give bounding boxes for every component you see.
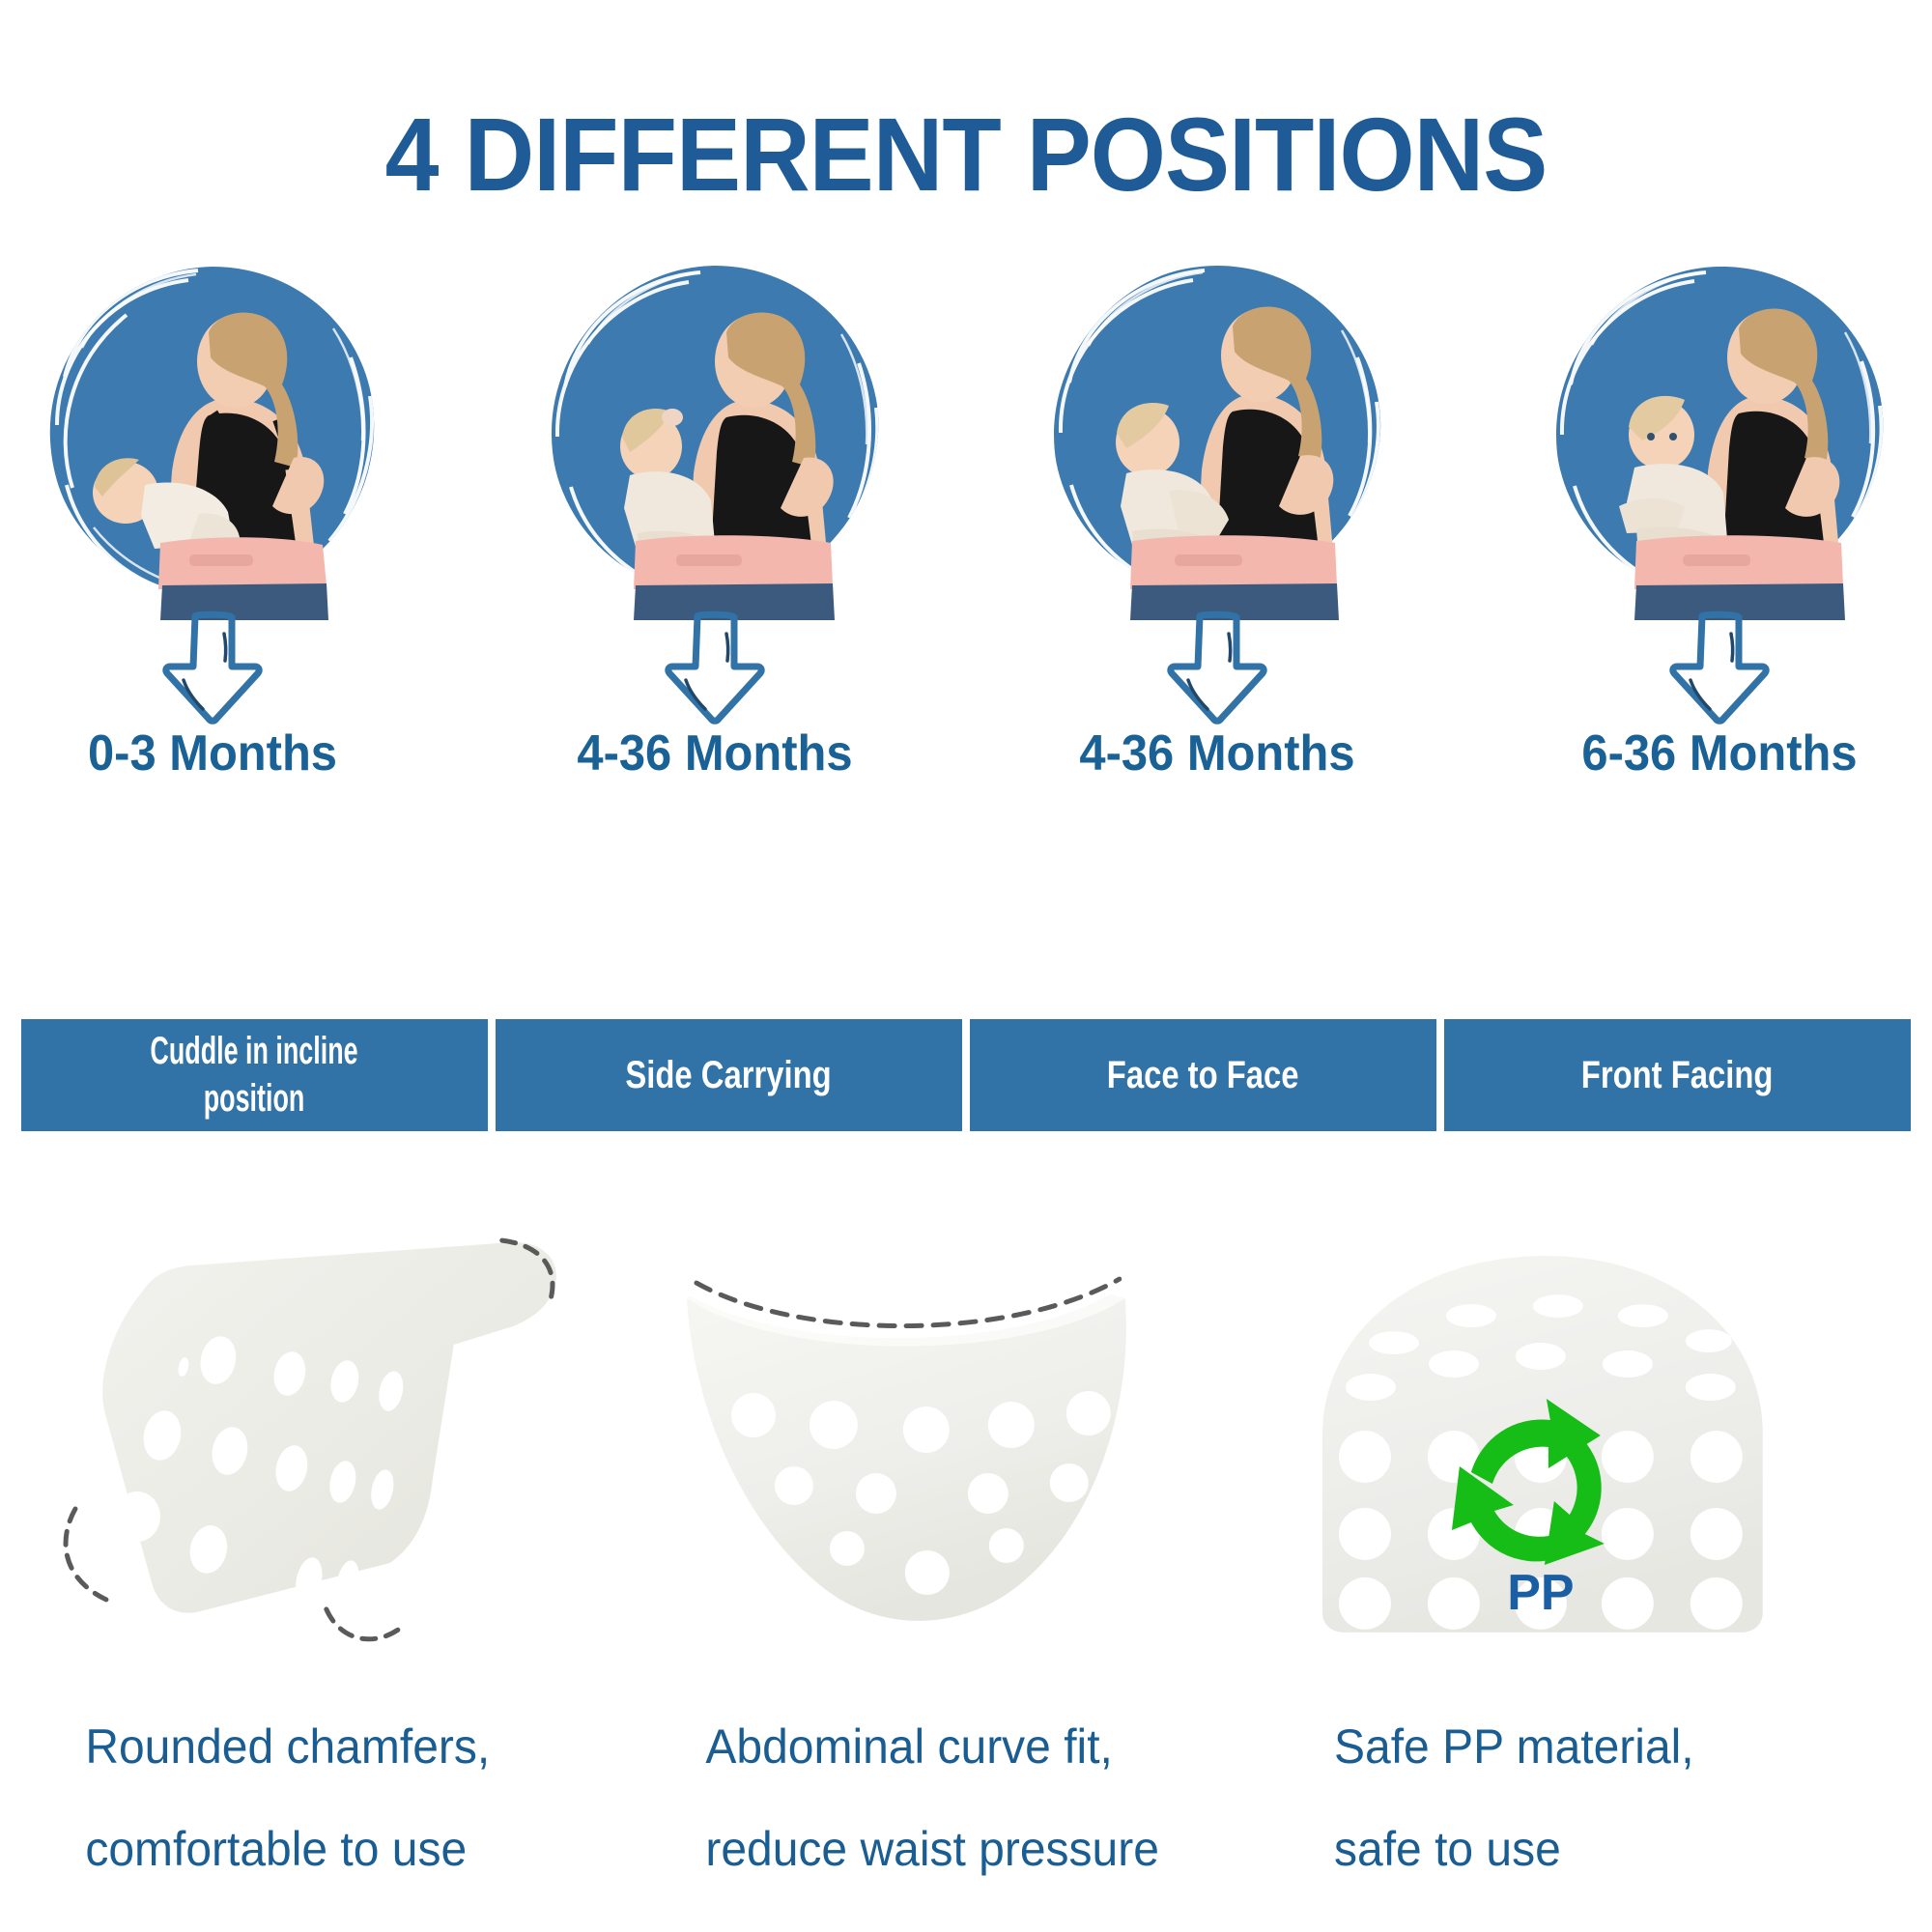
feature-art-row: PP (0, 1227, 1932, 1671)
feature-caption-1-line-2: comfortable to use (85, 1798, 618, 1900)
rounded-chamfer-panel-art (0, 1227, 644, 1671)
position-label-bar-row: Cuddle in incline position Side Carrying… (21, 1019, 1911, 1131)
down-arrow-icon (1662, 611, 1777, 724)
position-photo-cell-2 (522, 253, 908, 620)
position-label-line-1a: Cuddle in incline (151, 1028, 358, 1075)
position-label-bar-1: Cuddle in incline position (21, 1019, 488, 1131)
position-label-line-1b: position (151, 1075, 358, 1122)
feature-caption-1: Rounded chamfers, comfortable to use (0, 1695, 618, 1908)
down-arrow-icon (1159, 611, 1275, 724)
feature-caption-3-line-2: safe to use (1334, 1798, 1906, 1900)
position-label-bar-3: Face to Face (970, 1019, 1436, 1131)
age-label-3: 4-36 Months (1036, 720, 1399, 797)
pp-material-panel-art: PP (1288, 1227, 1932, 1671)
position-label-bar-2: Side Carrying (496, 1019, 962, 1131)
feature-caption-2: Abdominal curve fit, reduce waist pressu… (644, 1695, 1263, 1908)
feature-caption-3: Safe PP material, safe to use (1288, 1695, 1906, 1908)
abdominal-curve-panel-art (644, 1227, 1289, 1671)
age-label-4: 6-36 Months (1538, 720, 1901, 797)
feature-caption-3-line-1: Safe PP material, (1334, 1695, 1906, 1798)
cuddle-incline-photo (19, 253, 406, 620)
front-facing-photo (1526, 253, 1913, 620)
position-photo-cell-1 (19, 253, 406, 620)
age-label-row: 0-3 Months 4-36 Months 4-36 Months 6-36 … (19, 720, 1913, 797)
down-arrow-icon (657, 611, 773, 724)
age-label-2: 4-36 Months (533, 720, 896, 797)
feature-caption-1-line-1: Rounded chamfers, (85, 1695, 618, 1798)
feature-caption-2-line-2: reduce waist pressure (705, 1798, 1263, 1900)
feature-cell-1 (0, 1227, 644, 1671)
down-arrow-icon (155, 611, 270, 724)
feature-cell-3: PP (1288, 1227, 1932, 1671)
down-arrow-cell-4 (1526, 611, 1913, 726)
feature-cell-2 (644, 1227, 1289, 1671)
side-carrying-photo (522, 253, 908, 620)
pp-badge-text: PP (1508, 1565, 1575, 1621)
position-label-line-2a: Side Carrying (626, 1052, 832, 1099)
position-photo-cell-3 (1024, 253, 1410, 620)
feature-caption-row: Rounded chamfers, comfortable to use Abd… (0, 1695, 1932, 1908)
position-photo-cell-4 (1526, 253, 1913, 620)
page-title: 4 DIFFERENT POSITIONS (68, 102, 1864, 207)
down-arrow-cell-1 (19, 611, 406, 726)
positions-photo-row (19, 253, 1913, 620)
age-label-1: 0-3 Months (31, 720, 394, 797)
down-arrow-cell-2 (522, 611, 908, 726)
feature-caption-2-line-1: Abdominal curve fit, (705, 1695, 1263, 1798)
down-arrow-cell-3 (1024, 611, 1410, 726)
position-label-line-3a: Face to Face (1107, 1052, 1299, 1099)
face-to-face-photo (1024, 253, 1410, 620)
position-label-bar-4: Front Facing (1444, 1019, 1911, 1131)
position-label-line-4a: Front Facing (1581, 1052, 1774, 1099)
down-arrow-row (19, 611, 1913, 726)
